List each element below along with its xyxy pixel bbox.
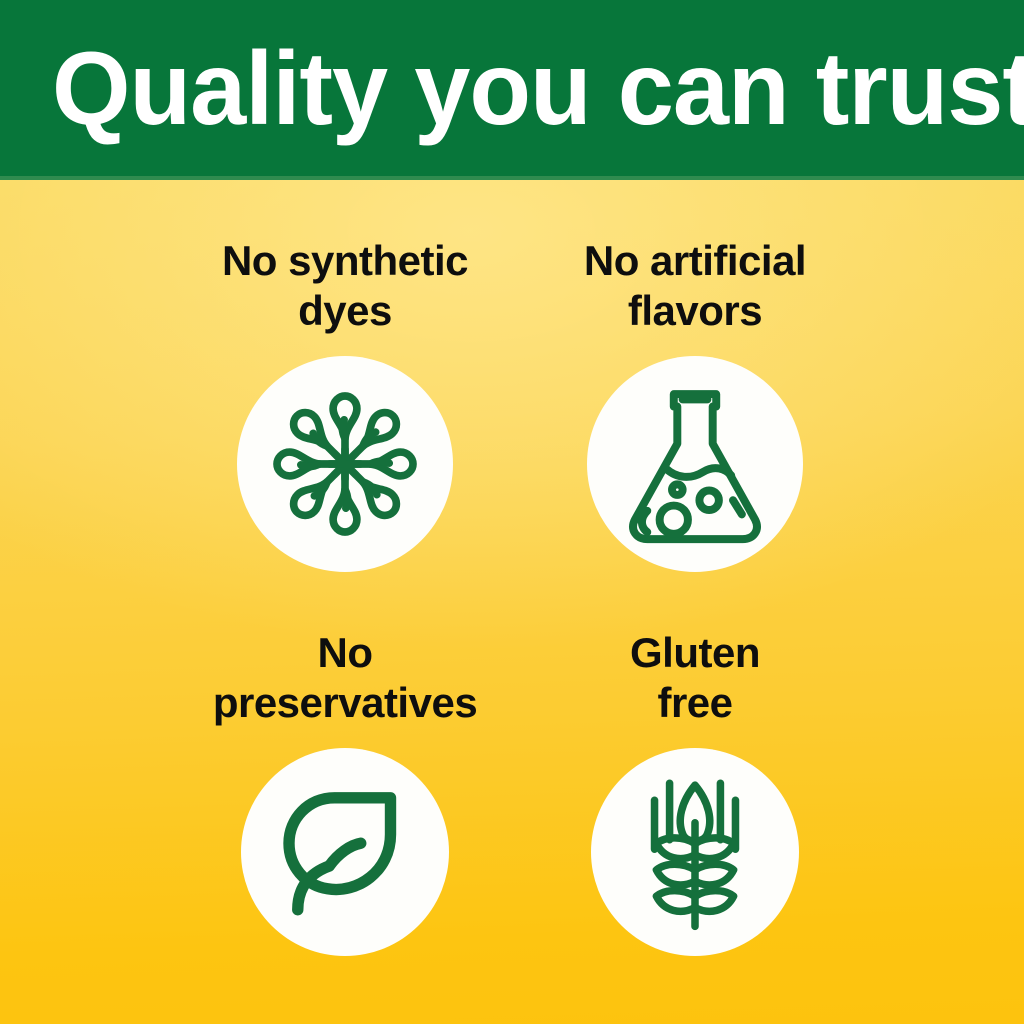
quality-claims-poster: Quality you can trust No synthetic dyes xyxy=(0,0,1024,1024)
feature-item-no-preservatives: No preservatives xyxy=(180,628,510,956)
icon-badge xyxy=(237,356,453,572)
feature-grid: No synthetic dyes xyxy=(0,180,1024,1024)
feature-label-line1: No artificial xyxy=(530,236,860,286)
feature-label-line1: Gluten xyxy=(530,628,860,678)
feature-label: Gluten free xyxy=(530,628,860,728)
feature-label-line2: free xyxy=(530,678,860,728)
feature-label: No artificial flavors xyxy=(530,236,860,336)
feature-label: No preservatives xyxy=(180,628,510,728)
icon-badge xyxy=(587,356,803,572)
icon-badge xyxy=(241,748,449,956)
feature-label: No synthetic dyes xyxy=(180,236,510,336)
leaf-icon xyxy=(275,782,415,922)
feature-label-line2: dyes xyxy=(180,286,510,336)
feature-label-line1: No xyxy=(180,628,510,678)
feature-item-gluten-free: Gluten free xyxy=(530,628,860,956)
icon-badge xyxy=(591,748,799,956)
feature-label-line2: flavors xyxy=(530,286,860,336)
header-banner: Quality you can trust xyxy=(0,0,1024,176)
wheat-icon xyxy=(630,772,760,932)
feature-label-line2: preservatives xyxy=(180,678,510,728)
flask-icon xyxy=(615,380,775,548)
dye-droplet-burst-icon xyxy=(260,379,430,549)
feature-item-no-synthetic-dyes: No synthetic dyes xyxy=(180,236,510,572)
page-title: Quality you can trust xyxy=(52,30,968,148)
feature-label-line1: No synthetic xyxy=(180,236,510,286)
feature-item-no-artificial-flavors: No artificial flavors xyxy=(530,236,860,572)
